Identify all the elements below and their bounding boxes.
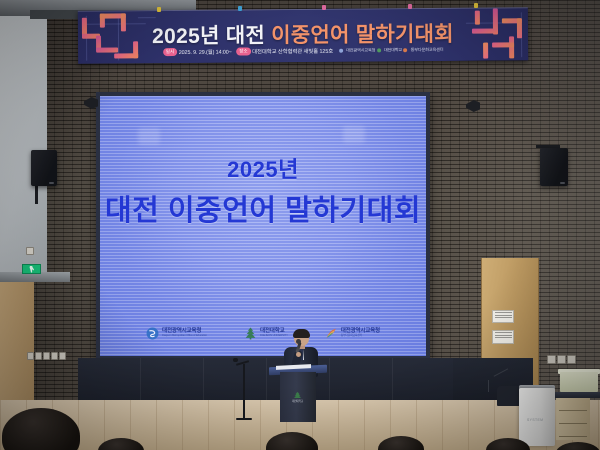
banner-clip bbox=[157, 7, 161, 12]
logo-daejeon-university: 대전대학교 DAEJEON UNIVERSITY bbox=[244, 327, 288, 340]
event-banner: 2025년 대전 이중언어 말하기대회 일시 2025. 9. 29.(월) 1… bbox=[78, 7, 528, 64]
wood-panel-left bbox=[0, 282, 34, 402]
slide-title-line1: 2025년 bbox=[100, 152, 426, 184]
logo-multicultural-education-center: 대전광역시교육청 동부다문화교육센터 bbox=[325, 327, 380, 340]
microphone-stand-head bbox=[233, 358, 238, 362]
auditorium-scene: 2025년 대전 이중언어 말하기대회 일시 2025. 9. 29.(월) 1… bbox=[0, 0, 600, 450]
wall-outlet[interactable] bbox=[51, 352, 58, 360]
presenter-hand bbox=[296, 352, 301, 357]
banner-clip bbox=[474, 3, 478, 8]
university-tree-logo-icon bbox=[244, 327, 257, 340]
logo-text: 대전광역시교육청 Daejeon Metropolitan Office of … bbox=[162, 329, 207, 338]
door-notice bbox=[492, 330, 514, 344]
logo-daejeon-office-of-education: 대전광역시교육청 Daejeon Metropolitan Office of … bbox=[146, 327, 207, 340]
wall-outlet[interactable] bbox=[59, 352, 66, 360]
banner-sponsor-2: 대전대학교 bbox=[384, 47, 402, 53]
desk-drawers[interactable] bbox=[556, 398, 590, 440]
wall-outlet[interactable] bbox=[567, 355, 576, 364]
banner-title-part1: 2025년 대전 bbox=[152, 24, 271, 48]
projection-screen-frame: 2025년 대전 이중언어 말하기대회 대전광역시교육청 Daejeon Met… bbox=[96, 92, 430, 360]
banner-date-value: 2025. 9. 29.(월) 14:00~ bbox=[179, 50, 232, 56]
wall-speaker-right bbox=[540, 148, 568, 186]
air-purifier[interactable] bbox=[519, 388, 555, 446]
desk-microphone-base bbox=[488, 380, 489, 392]
screen-glare bbox=[138, 128, 160, 145]
screen-glare bbox=[343, 126, 365, 143]
banner-clip bbox=[408, 4, 412, 9]
podium-logo: 대전대학교 bbox=[291, 392, 304, 403]
storage-boxes bbox=[560, 372, 598, 392]
wall-speaker-left bbox=[31, 150, 57, 186]
banner-place-label: 장소 bbox=[236, 48, 251, 55]
stage-front-wall bbox=[78, 358, 453, 406]
logo-text: 대전광역시교육청 동부다문화교육센터 bbox=[341, 329, 380, 338]
wall-outlet[interactable] bbox=[547, 355, 556, 364]
slide-title: 2025년 대전 이중언어 말하기대회 bbox=[100, 152, 426, 229]
wall-outlet[interactable] bbox=[43, 352, 50, 360]
running-man-icon bbox=[29, 266, 34, 273]
slide-logo-row: 대전광역시교육청 Daejeon Metropolitan Office of … bbox=[100, 327, 426, 340]
wall-switch[interactable] bbox=[26, 247, 34, 255]
podium-logo-label: 대전대학교 bbox=[292, 399, 303, 403]
banner-clip bbox=[322, 5, 326, 10]
wall-outlet[interactable] bbox=[35, 352, 42, 360]
banner-grid-line bbox=[138, 17, 156, 18]
logo-name-en: 동부다문화교육센터 bbox=[341, 335, 380, 338]
microphone-stand-base bbox=[236, 418, 252, 420]
wall-outlet[interactable] bbox=[557, 355, 566, 364]
presenter-hair bbox=[293, 329, 310, 338]
projection-screen: 2025년 대전 이중언어 말하기대회 대전광역시교육청 Daejeon Met… bbox=[100, 96, 426, 356]
air-purifier-label: SYSTEM bbox=[527, 418, 543, 422]
banner-sponsor-3: 동부다문화교육센터 bbox=[411, 47, 444, 53]
logo-name-en: Daejeon Metropolitan Office of Education bbox=[162, 335, 207, 338]
banner-place-value: 대전대학교 산학협력관 새빛홀 125호 bbox=[252, 49, 333, 56]
emergency-exit-sign bbox=[22, 264, 41, 274]
education-office-logo-icon bbox=[146, 327, 159, 340]
banner-date-label: 일시 bbox=[163, 48, 178, 55]
banner-clip bbox=[238, 6, 242, 11]
door-notice bbox=[492, 310, 514, 323]
grey-column bbox=[0, 0, 47, 282]
microphone-head-icon bbox=[296, 339, 301, 344]
multicultural-center-logo-icon bbox=[325, 327, 338, 340]
banner-title-part2: 이중언어 말하기대회 bbox=[271, 23, 454, 47]
sponsor-mark-icon bbox=[377, 48, 381, 52]
banner-sponsor-1: 대전광역시교육청 bbox=[346, 47, 375, 53]
microphone-stand bbox=[243, 364, 245, 420]
sponsor-mark-icon bbox=[404, 48, 408, 52]
podium-tree-icon bbox=[294, 392, 301, 398]
slide-title-line2: 대전 이중언어 말하기대회 bbox=[100, 187, 426, 229]
sponsor-mark-icon bbox=[339, 49, 343, 53]
wall-outlet[interactable] bbox=[27, 352, 34, 360]
